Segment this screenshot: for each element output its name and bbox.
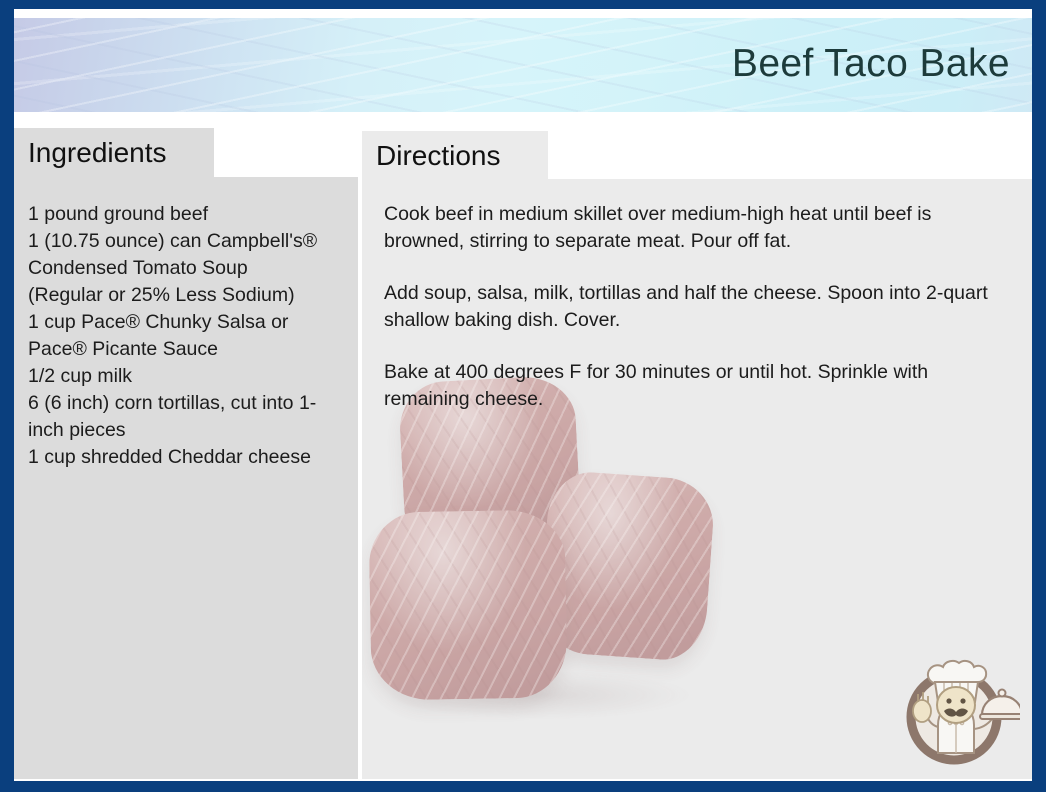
list-item: Condensed Tomato Soup <box>28 255 352 282</box>
tab-directions-label: Directions <box>376 140 500 172</box>
list-item: (Regular or 25% Less Sodium) <box>28 282 352 309</box>
page-title: Beef Taco Bake <box>732 42 1010 86</box>
list-item: 1 pound ground beef <box>28 201 352 228</box>
beef-fiber-texture <box>368 509 567 700</box>
list-item: inch pieces <box>28 417 352 444</box>
directions-panel: Cook beef in medium skillet over medium-… <box>362 179 1032 779</box>
chef-logo-icon <box>894 643 1020 769</box>
direction-step: Add soup, salsa, milk, tortillas and hal… <box>384 280 1010 334</box>
recipe-card: Beef Taco Bake Ingredients Directions 1 … <box>0 0 1046 792</box>
beef-photo <box>362 371 782 771</box>
card-inner-surface: Beef Taco Bake Ingredients Directions 1 … <box>14 9 1032 781</box>
tab-directions[interactable]: Directions <box>362 131 548 181</box>
direction-step: Bake at 400 degrees F for 30 minutes or … <box>384 359 1010 413</box>
direction-step: Cook beef in medium skillet over medium-… <box>384 201 1010 255</box>
beef-chunk <box>368 509 567 700</box>
ingredients-panel: 1 pound ground beef 1 (10.75 ounce) can … <box>14 177 358 779</box>
list-item: 1 (10.75 ounce) can Campbell's® <box>28 228 352 255</box>
header-banner: Beef Taco Bake <box>14 18 1032 112</box>
list-item: 1/2 cup milk <box>28 363 352 390</box>
tab-ingredients[interactable]: Ingredients <box>14 128 214 178</box>
ingredients-list: 1 pound ground beef 1 (10.75 ounce) can … <box>28 201 352 471</box>
list-item: Pace® Picante Sauce <box>28 336 352 363</box>
tab-ingredients-label: Ingredients <box>28 137 167 169</box>
list-item: 6 (6 inch) corn tortillas, cut into 1- <box>28 390 352 417</box>
list-item: 1 cup Pace® Chunky Salsa or <box>28 309 352 336</box>
directions-steps: Cook beef in medium skillet over medium-… <box>384 201 1010 413</box>
list-item: 1 cup shredded Cheddar cheese <box>28 444 352 471</box>
